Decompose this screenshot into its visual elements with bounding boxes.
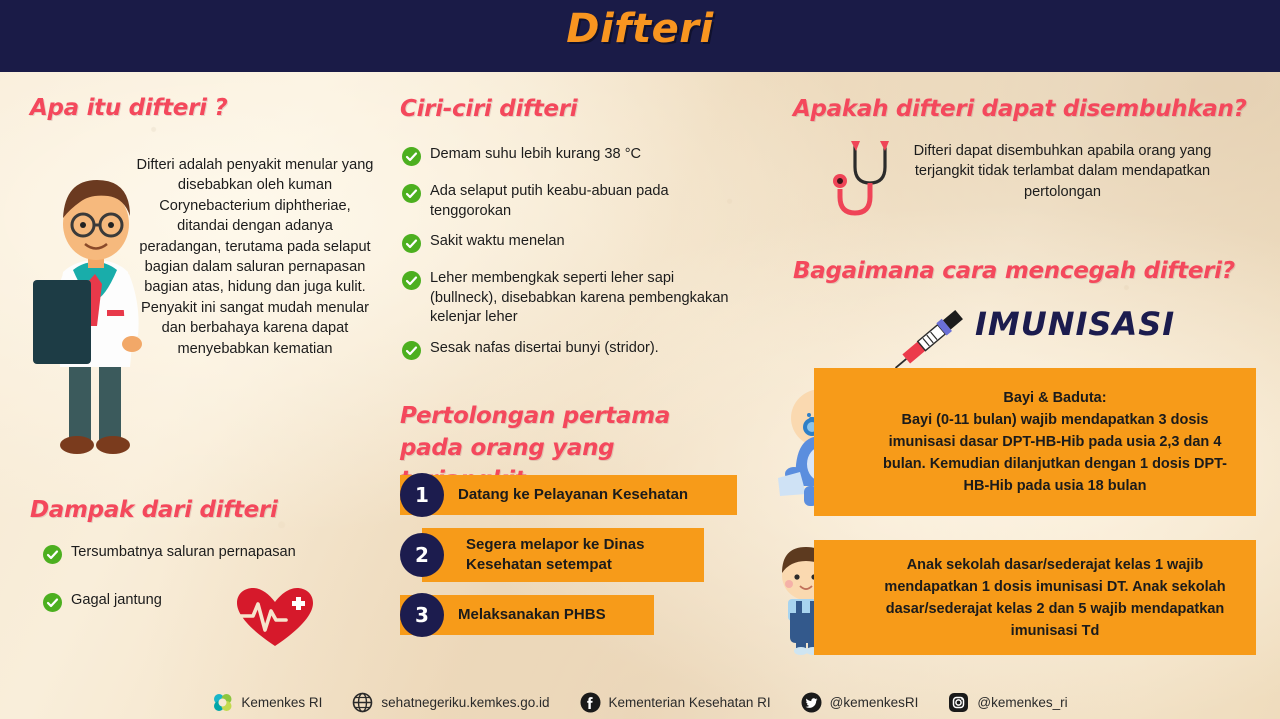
section-title-apa-itu-difteri: Apa itu difteri ? [30,95,227,121]
check-circle-icon [402,184,421,208]
card-heading: Bayi & Baduta: [872,387,1238,409]
globe-icon [352,692,373,713]
impact-label: Tersumbatnya saluran pernapasan [71,543,296,563]
impact-label: Gagal jantung [71,591,162,611]
footer-item-twitter[interactable]: @kemenkesRI [801,692,919,713]
card-text: Bayi (0-11 bulan) wajib mendapatkan 3 do… [872,409,1238,497]
step-label: Segera melapor ke Dinas Kesehatan setemp… [422,528,704,582]
imunisasi-label: IMUNISASI [975,305,1175,343]
check-circle-icon [402,147,421,171]
footer-item-instagram[interactable]: @kemenkes_ri [948,692,1067,713]
symptoms-list: Demam suhu lebih kurang 38 °C Ada selapu… [402,145,732,376]
footer-item-facebook[interactable]: Kementerian Kesehatan RI [580,692,771,713]
list-item: Leher membengkak seperti leher sapi (bul… [402,269,732,328]
check-circle-icon [43,593,62,617]
step-number: 3 [400,593,444,637]
check-circle-icon [402,271,421,295]
footer-item-website[interactable]: sehatnegeriku.kemkes.go.id [352,692,549,713]
symptom-label: Demam suhu lebih kurang 38 °C [430,145,641,165]
page-header: Difteri [0,0,1280,72]
footer-label: Kementerian Kesehatan RI [609,695,771,710]
list-item: Tersumbatnya saluran pernapasan [43,543,353,569]
immunization-card-school: Anak sekolah dasar/sederajat kelas 1 waj… [814,540,1256,655]
list-item: Sakit waktu menelan [402,232,732,258]
facebook-icon [580,692,601,713]
twitter-icon [801,692,822,713]
syringe-icon [885,303,975,375]
check-circle-icon [43,545,62,569]
list-item: Demam suhu lebih kurang 38 °C [402,145,732,171]
check-circle-icon [402,234,421,258]
step-item[interactable]: 2 Segera melapor ke Dinas Kesehatan sete… [400,528,745,582]
section-title-dampak: Dampak dari difteri [30,497,278,523]
step-number: 1 [400,473,444,517]
check-circle-icon [402,341,421,365]
list-item: Sesak nafas disertai bunyi (stridor). [402,339,732,365]
intro-paragraph: Difteri adalah penyakit menular yang dis… [135,155,375,359]
footer-label: Kemenkes RI [241,695,322,710]
step-item[interactable]: 3 Melaksanakan PHBS [400,595,745,635]
footer-label: @kemenkesRI [830,695,919,710]
step-number: 2 [400,533,444,577]
section-title-cara-mencegah: Bagaimana cara mencegah difteri? [793,258,1235,284]
list-item: Ada selaput putih keabu-abuan pada tengg… [402,182,732,221]
step-item[interactable]: 1 Datang ke Pelayanan Kesehatan [400,475,745,515]
instagram-icon [948,692,969,713]
footer: Kemenkes RI sehatnegeriku.kemkes.go.id K… [0,692,1280,713]
footer-label: sehatnegeriku.kemkes.go.id [381,695,549,710]
heart-pulse-icon [235,586,315,648]
symptom-label: Ada selaput putih keabu-abuan pada tengg… [430,182,732,221]
symptom-label: Sakit waktu menelan [430,232,565,252]
section-title-ciri-ciri: Ciri-ciri difteri [400,96,577,122]
symptom-label: Sesak nafas disertai bunyi (stridor). [430,339,659,359]
page-title: Difteri [0,6,1280,52]
footer-label: @kemenkes_ri [977,695,1067,710]
section-title-apakah-dapat-disembuhkan: Apakah difteri dapat disembuhkan? [793,96,1247,122]
immunization-card-baby: Bayi & Baduta: Bayi (0-11 bulan) wajib m… [814,368,1256,516]
first-aid-steps: 1 Datang ke Pelayanan Kesehatan 2 Segera… [400,475,745,648]
footer-item-kemenkes[interactable]: Kemenkes RI [212,692,322,713]
symptom-label: Leher membengkak seperti leher sapi (bul… [430,269,732,328]
kemenkes-logo-icon [212,692,233,713]
card-text: Anak sekolah dasar/sederajat kelas 1 waj… [872,554,1238,642]
step-label: Datang ke Pelayanan Kesehatan [400,475,737,515]
cure-paragraph: Difteri dapat disembuhkan apabila orang … [900,141,1225,202]
